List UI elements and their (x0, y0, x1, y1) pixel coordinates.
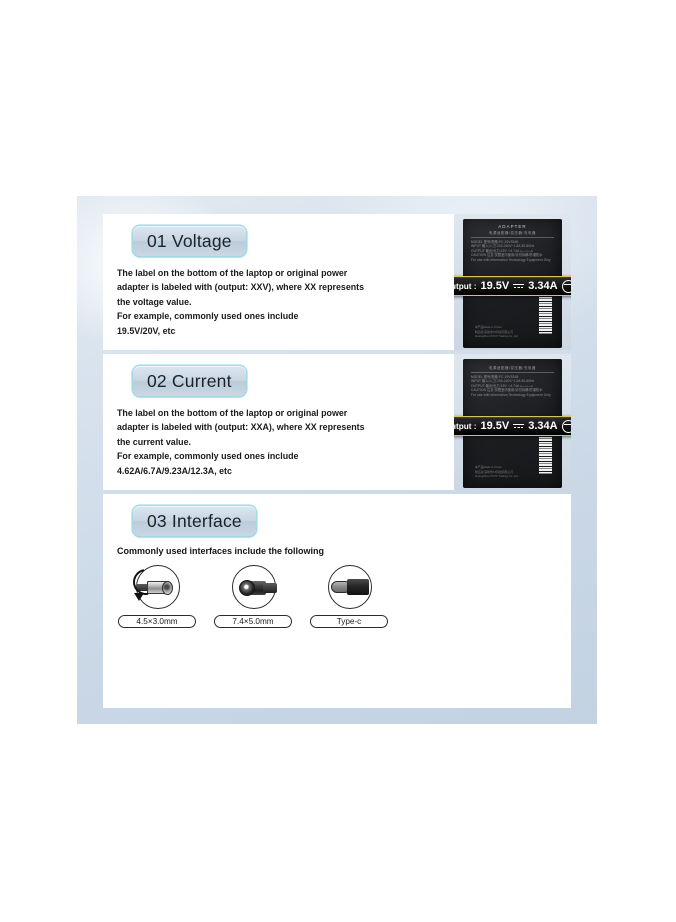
section-card-current: 02 Current The label on the bottom of th… (103, 354, 571, 490)
section-card-voltage: 01 Voltage The label on the bottom of th… (103, 214, 571, 350)
dc-symbol-icon (513, 422, 524, 431)
adapter-label-line: For use with Information Technology Equi… (471, 258, 554, 263)
adapter-label-line: For use with Information Technology Equi… (471, 393, 554, 398)
connector-item: Type-c (311, 564, 387, 628)
output-callout-voltage-value: 19.5V (480, 280, 509, 292)
plug-graphic (233, 580, 277, 596)
section-badge-current-label: 02 Current (147, 371, 232, 392)
center-negative-polarity-icon (562, 280, 571, 293)
section-badge-voltage: 01 Voltage (133, 226, 246, 256)
section-badge-interface: 03 Interface (133, 506, 256, 536)
adapter-photo-current: 电源适配器/变压器/充电器 MODEL 型号/规格:PC-19V334B INP… (454, 354, 571, 490)
type-c-body (347, 579, 369, 595)
output-callout-current-value: 3.34A (528, 280, 557, 292)
output-callout-current-value: 3.34A (528, 420, 557, 432)
dc-symbol-icon (513, 282, 524, 291)
connector-size-label: 4.5×3.0mm (118, 615, 196, 628)
adapter-label-subtitle: 电源适配器/变压器/充电器 (471, 365, 554, 370)
usb-type-c-plug-icon (319, 564, 379, 614)
connector-size-label: 7.4×5.0mm (214, 615, 292, 628)
section-badge-interface-label: 03 Interface (147, 511, 242, 532)
adapter-rating-label: ADAPTER 电源适配器/变压器/充电器 MODEL 型号/规格:PC-19V… (471, 224, 554, 270)
adapter-label-subtitle: 电源适配器/变压器/充电器 (471, 230, 554, 235)
output-callout-label: output : (454, 282, 476, 291)
output-callout-voltage: output : 19.5V 3.34A (454, 276, 571, 296)
plug-tip (162, 581, 173, 595)
infographic-panel: How to choose AC Adapter 01 Voltage The … (77, 196, 597, 724)
adapter-label-title: ADAPTER (471, 224, 554, 229)
section-body-current: The label on the bottom of the laptop or… (117, 406, 417, 478)
adapter-label-divider (471, 237, 554, 238)
center-negative-polarity-icon (562, 420, 571, 433)
barrel-plug-silver-icon (127, 564, 187, 614)
barrel-plug-black-icon (223, 564, 283, 614)
connector-list: 4.5×3.0mm 7.4×5.0mm (119, 564, 387, 628)
output-callout-label: output : (454, 422, 476, 431)
adapter-photo-voltage: ADAPTER 电源适配器/变压器/充电器 MODEL 型号/规格:PC-19V… (454, 214, 571, 350)
adapter-footnote: 本产品Made in China 制造商:深圳市XX科技有限公司 Guangzh… (475, 325, 518, 338)
section-badge-voltage-label: 01 Voltage (147, 231, 232, 252)
adapter-rating-label: 电源适配器/变压器/充电器 MODEL 型号/规格:PC-19V334B INP… (471, 364, 554, 410)
plug-graphic (331, 581, 371, 596)
section-body-voltage: The label on the bottom of the laptop or… (117, 266, 417, 338)
output-callout-current: output : 19.5V 3.34A (454, 416, 571, 436)
section-badge-current: 02 Current (133, 366, 246, 396)
output-callout-voltage-value: 19.5V (480, 420, 509, 432)
plug-tip (239, 580, 255, 596)
plug-cable (263, 583, 277, 593)
adapter-label-divider (471, 372, 554, 373)
interface-subtitle: Commonly used interfaces include the fol… (117, 546, 324, 556)
rotation-arrow-head-icon (134, 593, 144, 601)
connector-size-label: Type-c (310, 615, 388, 628)
connector-item: 4.5×3.0mm (119, 564, 195, 628)
adapter-footnote: 本产品Made in China 制造商:深圳市XX科技有限公司 Guangzh… (475, 465, 518, 478)
connector-item: 7.4×5.0mm (215, 564, 291, 628)
section-card-interface: 03 Interface Commonly used interfaces in… (103, 494, 571, 708)
